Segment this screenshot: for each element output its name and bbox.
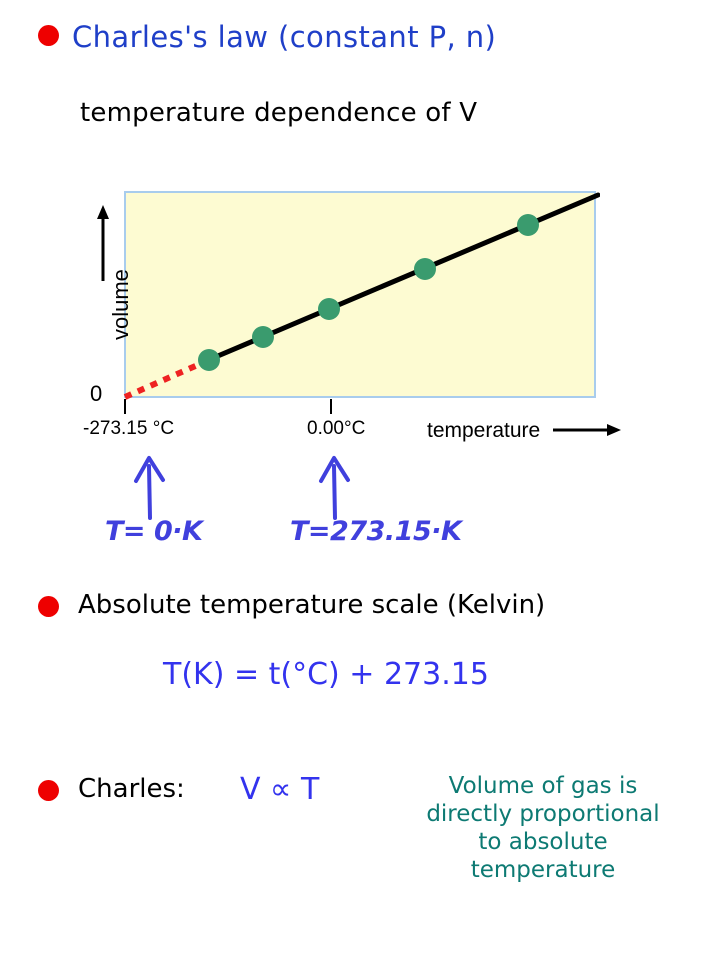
data-point <box>517 214 539 236</box>
bullet-absolute-scale <box>38 596 59 617</box>
charles-label: Charles: <box>78 774 185 804</box>
data-point <box>318 298 340 320</box>
bullet-charles <box>38 780 59 801</box>
data-point <box>252 326 274 348</box>
x-tick-label-ice-point: 0.00°C <box>307 418 365 440</box>
extrapolation-line <box>125 360 209 397</box>
annotation-up-arrow-icon <box>310 450 360 520</box>
x-tick-label-absolute-zero: -273.15 °C <box>83 418 174 440</box>
annotation-label: T=273.15·K <box>290 516 461 547</box>
conclusion-line: directly proportional <box>418 800 668 828</box>
data-point <box>414 258 436 280</box>
x-axis-label: temperature <box>427 419 540 443</box>
proportionality-expression: V ∝ T <box>240 772 319 807</box>
kelvin-formula: T(K) = t(°C) + 273.15 <box>163 657 489 692</box>
conclusion-line: Volume of gas is <box>418 772 668 800</box>
section-absolute-scale-label: Absolute temperature scale (Kelvin) <box>78 590 545 620</box>
conclusion-line: temperature <box>418 856 668 884</box>
x-tick-ice-point <box>330 399 332 414</box>
x-axis-arrow-icon <box>553 420 623 440</box>
annotation-up-arrow-icon <box>125 450 175 520</box>
data-point <box>198 349 220 371</box>
charles-law-chart: volume 0 -273.15 °C 0.00°C temperature <box>0 0 720 450</box>
y-axis-arrow-icon <box>93 203 113 283</box>
conclusion-line: to absolute <box>418 828 668 856</box>
chart-series-svg <box>120 188 600 403</box>
x-tick-absolute-zero <box>124 399 126 414</box>
annotation-label: T= 0·K <box>105 516 202 547</box>
y-axis-zero-label: 0 <box>90 381 102 407</box>
conclusion-text: Volume of gas is directly proportional t… <box>418 772 668 884</box>
